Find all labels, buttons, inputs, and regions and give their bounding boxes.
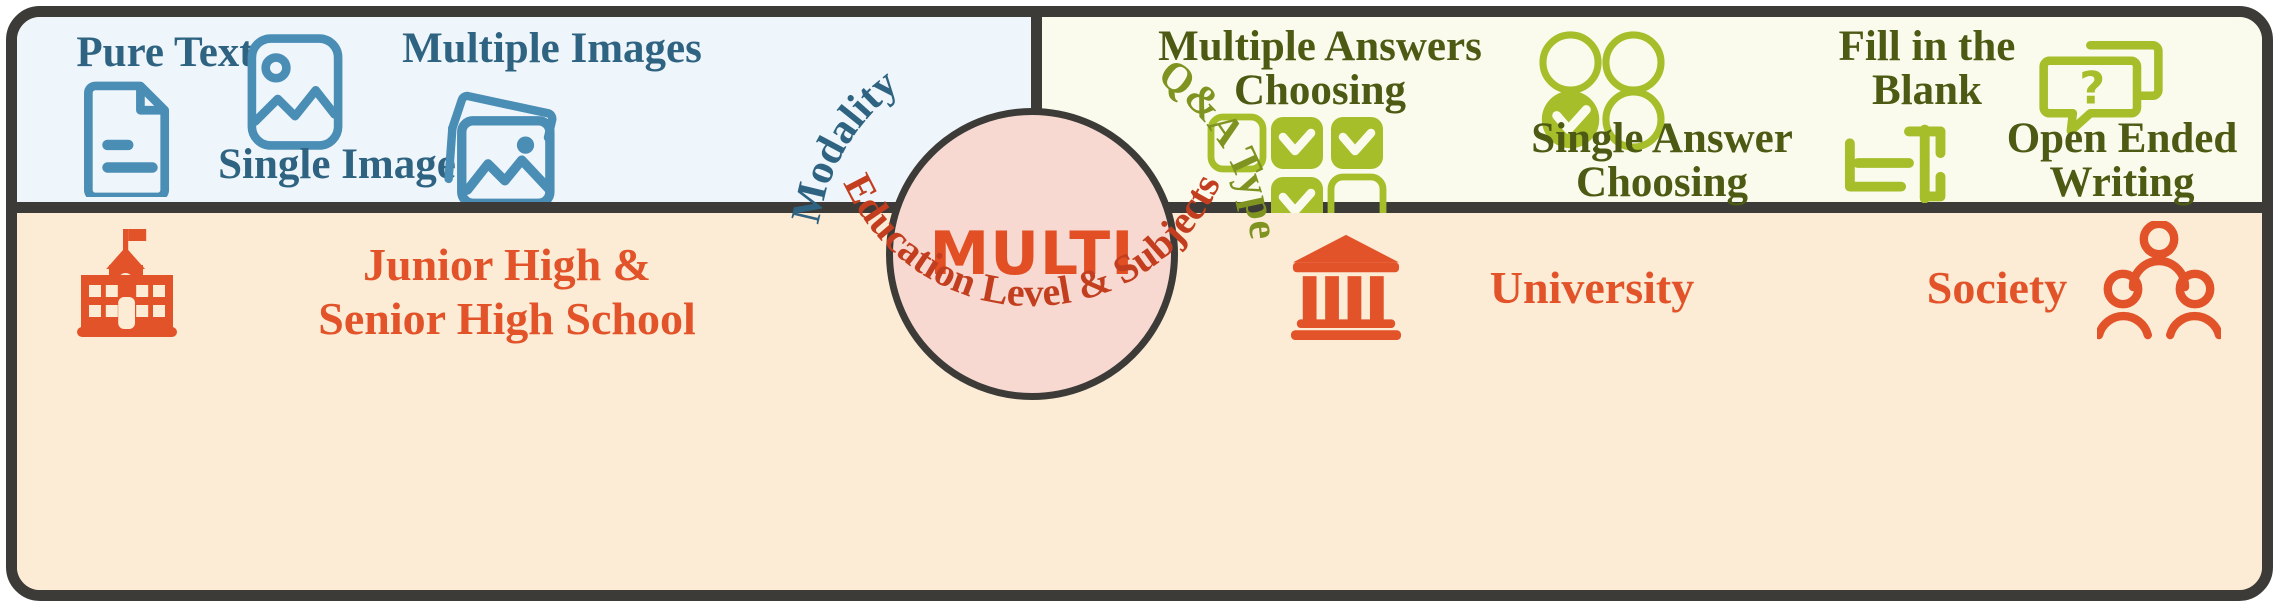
checkbox-group-icon <box>1207 113 1427 223</box>
document-icon <box>75 79 185 197</box>
center-hub: MULTI <box>886 108 1178 400</box>
qa-item-label-open-ended-writing: Open Ended Writing <box>1982 117 2262 205</box>
modality-item-label-multiple-images: Multiple Images <box>372 27 732 71</box>
people-group-icon <box>2097 221 2221 343</box>
qa-item-label-multiple-answers: Multiple Answers Choosing <box>1120 25 1520 113</box>
hub-label: MULTI <box>930 219 1135 289</box>
university-icon <box>1287 229 1405 341</box>
multiple-images-icon <box>435 87 571 207</box>
education-item-label-school: Junior High & Senior High School <box>247 238 767 347</box>
infographic-frame: Pure Text Single Image Multiple Images <box>6 6 2273 601</box>
school-building-icon <box>69 225 189 345</box>
panel-modality: Pure Text Single Image Multiple Images <box>17 17 1031 202</box>
qa-item-label-single-answer: Single Answer Choosing <box>1462 117 1862 205</box>
panel-qa-type: Multiple Answers Choosing Single <box>1042 17 2262 202</box>
education-item-label-university: University <box>1417 265 1767 312</box>
svg-text:?: ? <box>2079 62 2105 115</box>
text-cursor-icon <box>1842 123 1972 203</box>
infographic-root: Pure Text Single Image Multiple Images <box>0 0 2279 607</box>
single-image-icon <box>245 31 345 153</box>
